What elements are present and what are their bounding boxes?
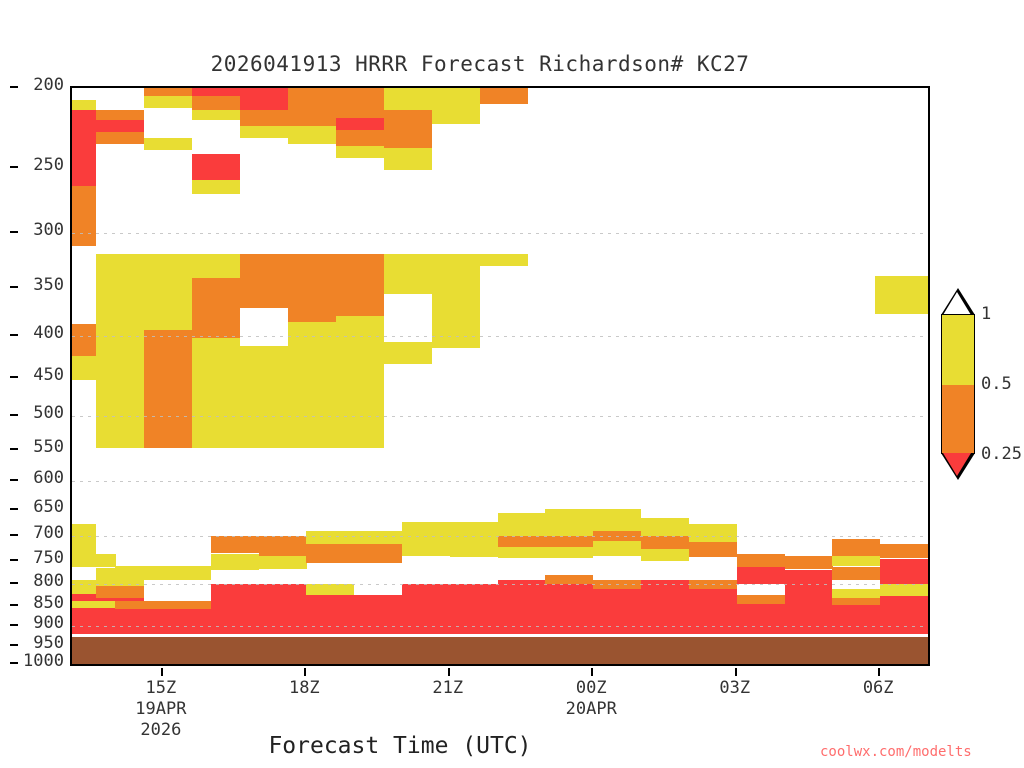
heatmap-cell <box>144 88 192 96</box>
heatmap-cell <box>545 509 593 537</box>
heatmap-cell <box>72 324 96 356</box>
heatmap-cell <box>240 254 288 308</box>
heatmap-cell <box>96 110 144 120</box>
heatmap-cell <box>240 346 288 448</box>
heatmap-cell <box>832 539 880 556</box>
heatmap-cell <box>832 589 880 598</box>
heatmap-cell <box>354 544 402 563</box>
heatmap-cell <box>480 254 528 266</box>
heatmap-cell <box>336 130 384 146</box>
y-axis-tick-mark <box>10 334 18 336</box>
heatmap-cell <box>192 254 240 278</box>
heatmap-cell <box>593 509 641 531</box>
heatmap-cell <box>72 554 116 567</box>
heatmap-cell <box>96 392 144 448</box>
y-axis-tick-mark <box>10 582 18 584</box>
heatmap-cell <box>384 342 432 364</box>
heatmap-cell <box>192 278 240 338</box>
heatmap-cell <box>336 158 384 254</box>
y-axis-tick-label: 650 <box>18 497 64 517</box>
y-axis-tick-label: 800 <box>18 571 64 591</box>
heatmap-cell <box>192 352 240 448</box>
heatmap-cell <box>72 484 96 524</box>
heatmap-cell <box>96 144 144 254</box>
heatmap-cell <box>288 144 336 254</box>
heatmap-cell <box>498 547 546 558</box>
y-axis-tick-label: 750 <box>18 548 64 568</box>
x-axis-tick-mark <box>878 668 880 676</box>
y-axis: 2002503003504004505005506006507007508008… <box>0 86 64 666</box>
heatmap-cell <box>832 556 880 566</box>
chart-canvas: 2026041913 HRRR Forecast Richardson# KC2… <box>0 0 1024 768</box>
gridline <box>72 664 928 665</box>
x-axis-title: Forecast Time (UTC) <box>190 733 610 759</box>
heatmap-cell <box>480 88 528 104</box>
y-axis-tick-label: 900 <box>18 613 64 633</box>
heatmap-cell <box>288 88 336 126</box>
heatmap-cell <box>192 338 240 352</box>
y-axis-tick-mark <box>10 559 18 561</box>
heatmap-cell <box>211 536 259 553</box>
y-axis-tick-label: 200 <box>18 75 64 95</box>
plot-area <box>70 86 930 666</box>
heatmap-cell <box>306 584 354 595</box>
heatmap-cell <box>288 356 336 448</box>
heatmap-cell <box>115 601 163 609</box>
heatmap-cell <box>72 356 96 380</box>
heatmap-cell <box>498 536 546 547</box>
heatmap-cell <box>641 518 689 536</box>
x-axis-tick-label: 06Z <box>843 678 913 698</box>
terrain-mask <box>72 634 928 664</box>
heatmap-cell <box>432 254 480 348</box>
x-axis-tick-mark <box>448 668 450 676</box>
heatmap-cell <box>593 589 641 635</box>
heatmap-cell <box>832 605 880 634</box>
heatmap-cell <box>96 254 144 392</box>
heatmap-cell <box>96 586 144 598</box>
heatmap-cell <box>144 150 192 254</box>
heatmap-cell <box>96 132 144 144</box>
y-axis-tick-label: 250 <box>18 155 64 175</box>
heatmap-cell <box>354 531 402 544</box>
y-axis-tick-label: 450 <box>18 365 64 385</box>
heatmap-cell <box>480 104 528 254</box>
heatmap-cell <box>450 522 498 557</box>
heatmap-cell <box>593 541 641 556</box>
heatmap-cell <box>384 170 432 254</box>
heatmap-cell <box>306 531 354 544</box>
heatmap-cell <box>144 330 192 448</box>
terrain-top-edge <box>72 634 928 637</box>
heatmap-cell <box>240 88 288 110</box>
heatmap-cell <box>354 595 402 634</box>
x-axis-tick-mark <box>591 668 593 676</box>
heatmap-cell <box>880 544 928 558</box>
heatmap-cell <box>288 322 336 356</box>
heatmap-cell <box>545 547 593 558</box>
heatmap-cell <box>96 120 144 132</box>
heatmap-cell <box>72 186 96 246</box>
heatmap-cell <box>384 148 432 170</box>
heatmap-cell <box>432 124 480 254</box>
heatmap-cells <box>72 88 928 664</box>
y-axis-tick-mark <box>10 86 18 88</box>
heatmap-cell <box>240 126 288 138</box>
heatmap-cell <box>875 276 928 314</box>
heatmap-cell <box>641 549 689 561</box>
y-axis-tick-mark <box>10 376 18 378</box>
heatmap-cell <box>72 580 96 594</box>
heatmap-cell <box>336 146 384 158</box>
heatmap-cell <box>72 110 96 186</box>
heatmap-cell <box>192 88 240 96</box>
heatmap-cell <box>336 88 384 118</box>
heatmap-cell <box>336 118 384 130</box>
gridline <box>72 416 928 417</box>
heatmap-cell <box>306 544 354 563</box>
heatmap-cell <box>163 566 211 580</box>
heatmap-cell <box>832 567 880 580</box>
x-axis-tick-label: 03Z <box>700 678 770 698</box>
heatmap-cell <box>72 100 96 110</box>
heatmap-cell <box>144 96 192 108</box>
heatmap-cell <box>240 138 288 254</box>
colorbar-segment <box>942 385 974 455</box>
heatmap-cell <box>432 88 480 124</box>
x-axis-tick-label: 18Z <box>269 678 339 698</box>
y-axis-tick-mark <box>10 479 18 481</box>
heatmap-cell <box>96 88 144 110</box>
heatmap-cell <box>498 513 546 537</box>
gridline <box>72 664 928 665</box>
heatmap-cell <box>528 88 930 254</box>
heatmap-cell <box>689 589 737 634</box>
heatmap-cell <box>72 88 96 100</box>
heatmap-cell <box>144 254 192 330</box>
heatmap-cell <box>336 254 384 316</box>
heatmap-cell <box>163 601 211 609</box>
x-axis-tick-mark <box>735 668 737 676</box>
y-axis-tick-label: 350 <box>18 275 64 295</box>
x-axis: 15Z19APR202618Z21Z00Z20APR03Z06Z <box>70 668 930 728</box>
colorbar-arrow-down-fill <box>943 453 971 476</box>
y-axis-tick-mark <box>10 508 18 510</box>
y-axis-tick-label: 550 <box>18 437 64 457</box>
heatmap-cell <box>259 536 307 556</box>
heatmap-cell <box>72 380 96 484</box>
heatmap-cell <box>192 194 240 254</box>
heatmap-cell <box>288 126 336 144</box>
heatmap-cell <box>737 595 785 604</box>
x-axis-tick-label: 15Z <box>126 678 196 698</box>
credit-watermark: coolwx.com/modelts <box>820 744 1020 760</box>
y-axis-tick-mark <box>10 231 18 233</box>
x-axis-tick-mark <box>161 668 163 676</box>
y-axis-tick-label: 300 <box>18 220 64 240</box>
x-axis-date-label: 20APR <box>546 699 636 720</box>
gridline <box>72 336 928 337</box>
heatmap-cell <box>192 180 240 194</box>
heatmap-cell <box>384 294 432 342</box>
colorbar-segment <box>942 315 974 385</box>
y-axis-tick-mark <box>10 662 18 664</box>
heatmap-cell <box>641 536 689 549</box>
heatmap-cell <box>240 110 288 126</box>
gridline <box>72 536 928 537</box>
colorbar-tick-label: 0.5 <box>981 374 1012 394</box>
heatmap-cell <box>144 108 192 138</box>
heatmap-cell <box>737 567 785 584</box>
heatmap-cell <box>306 595 354 634</box>
heatmap-cell <box>115 609 163 634</box>
heatmap-cell <box>288 308 336 322</box>
y-axis-tick-mark <box>10 644 18 646</box>
heatmap-cell <box>384 88 432 110</box>
heatmap-cell <box>545 536 593 547</box>
heatmap-cell <box>115 566 163 580</box>
heatmap-cell <box>211 554 259 570</box>
y-axis-tick-label: 700 <box>18 523 64 543</box>
y-axis-tick-label: 400 <box>18 323 64 343</box>
y-axis-tick-mark <box>10 624 18 626</box>
heatmap-cell <box>545 575 593 584</box>
y-axis-tick-label: 500 <box>18 403 64 423</box>
heatmap-cell <box>785 556 833 569</box>
heatmap-cell <box>832 598 880 605</box>
y-axis-tick-mark <box>10 166 18 168</box>
heatmap-cell <box>72 246 96 324</box>
heatmap-cell <box>288 254 336 308</box>
colorbar-tick-label: 1 <box>981 304 991 324</box>
x-axis-tick-label: 00Z <box>556 678 626 698</box>
y-axis-tick-label: 850 <box>18 593 64 613</box>
colorbar-body <box>941 314 975 454</box>
heatmap-cell <box>737 584 785 595</box>
heatmap-cell <box>384 110 432 148</box>
heatmap-cell <box>384 364 432 424</box>
heatmap-cell <box>402 522 450 556</box>
heatmap-cell <box>259 556 307 569</box>
heatmap-cell <box>689 542 737 557</box>
gridline <box>72 584 928 585</box>
colorbar-arrow-up-fill <box>943 292 971 315</box>
y-axis-tick-label: 1000 <box>18 651 64 671</box>
y-axis-tick-mark <box>10 286 18 288</box>
gridline <box>72 626 928 627</box>
heatmap-cell <box>192 154 240 180</box>
y-axis-tick-label: 950 <box>18 633 64 653</box>
heatmap-cell <box>240 308 288 346</box>
heatmap-cell <box>192 110 240 120</box>
heatmap-cell <box>192 120 240 154</box>
gridline <box>72 233 928 234</box>
heatmap-cell <box>144 138 192 150</box>
gridline <box>72 481 928 482</box>
heatmap-cell <box>880 559 928 584</box>
heatmap-cell <box>384 254 432 294</box>
heatmap-cell <box>880 596 928 634</box>
heatmap-cell <box>72 608 116 634</box>
x-axis-tick-mark <box>304 668 306 676</box>
heatmap-cell <box>163 609 211 634</box>
y-axis-tick-mark <box>10 534 18 536</box>
colorbar-tick-label: 0.25 <box>981 444 1022 464</box>
y-axis-tick-mark <box>10 448 18 450</box>
heatmap-cell <box>880 584 928 596</box>
x-axis-tick-label: 21Z <box>413 678 483 698</box>
heatmap-cell <box>737 554 785 567</box>
chart-title: 2026041913 HRRR Forecast Richardson# KC2… <box>0 52 960 76</box>
heatmap-cell <box>192 96 240 110</box>
y-axis-tick-mark <box>10 414 18 416</box>
heatmap-cell <box>689 524 737 543</box>
heatmap-cell <box>737 604 785 634</box>
colorbar: 10.50.25 <box>941 288 977 480</box>
y-axis-tick-label: 600 <box>18 468 64 488</box>
y-axis-tick-mark <box>10 604 18 606</box>
